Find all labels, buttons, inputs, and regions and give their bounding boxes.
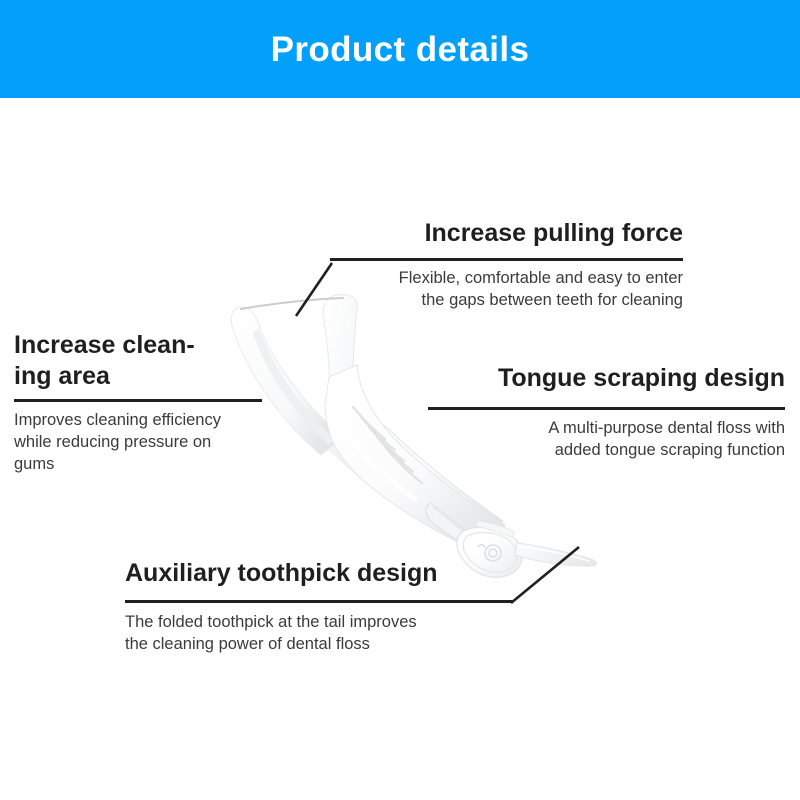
callout-body-increase-pulling-force: Flexible, comfortable and easy to enter … xyxy=(330,267,683,311)
callout-body-auxiliary-toothpick-design: The folded toothpick at the tail improve… xyxy=(125,611,513,655)
callout-heading-tongue-scraping-design: Tongue scraping design xyxy=(428,363,785,394)
callout-auxiliary-toothpick-design: Auxiliary toothpick design The folded to… xyxy=(125,558,513,655)
callout-rule-increase-pulling-force xyxy=(330,258,683,261)
product-details-infographic: Product details xyxy=(0,0,800,800)
callout-body-tongue-scraping-design: A multi-purpose dental floss with added … xyxy=(428,417,785,461)
callout-tongue-scraping-design: Tongue scraping design A multi-purpose d… xyxy=(428,363,785,461)
toothpick-tip xyxy=(515,543,597,566)
callout-heading-increase-pulling-force: Increase pulling force xyxy=(330,218,683,249)
callout-rule-increase-cleaning-area xyxy=(14,399,262,402)
callout-increase-pulling-force: Increase pulling force Flexible, comfort… xyxy=(330,218,683,311)
callout-rule-tongue-scraping-design xyxy=(428,407,785,410)
callout-increase-cleaning-area: Increase clean- ing area Improves cleani… xyxy=(14,330,262,475)
header-banner: Product details xyxy=(0,0,800,98)
callout-rule-auxiliary-toothpick-design xyxy=(125,600,513,603)
callout-heading-auxiliary-toothpick-design: Auxiliary toothpick design xyxy=(125,558,513,589)
callout-heading-increase-cleaning-area: Increase clean- ing area xyxy=(14,330,262,391)
page-title: Product details xyxy=(271,32,530,67)
callout-body-increase-cleaning-area: Improves cleaning efficiency while reduc… xyxy=(14,409,262,475)
